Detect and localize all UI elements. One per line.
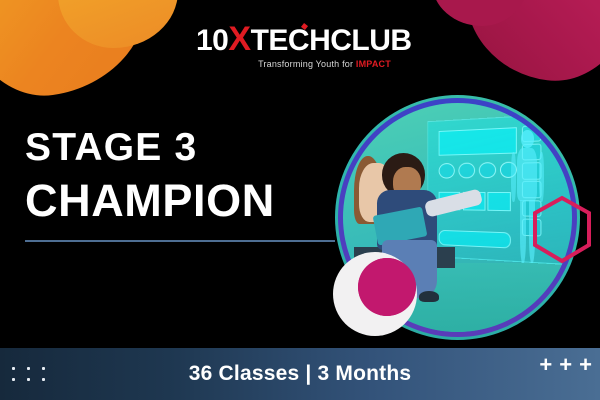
logo-x-text: X [228,20,250,58]
holo-pill [479,162,496,178]
promo-banner: 10XTECHCLUB Transforming Youth for IMPAC… [0,0,600,400]
logo-wordmark: 10XTECHCLUB [196,22,411,56]
logo-tagline: Transforming Youth for IMPACT [196,59,411,69]
magenta-circle-decoration [358,258,416,316]
headline-underline-divider [25,240,335,242]
footer-course-info-text: 36 Classes | 3 Months [189,362,412,386]
headline-block: STAGE 3 CHAMPION [25,128,345,223]
headline-stage-text: STAGE 3 [25,128,345,167]
logo-name-text: TECHCLUB [251,24,412,57]
plus-icon: + [579,354,592,376]
footer-bar: 36 Classes | 3 Months + + + [0,348,600,400]
holo-pill [458,162,474,178]
brand-logo: 10XTECHCLUB Transforming Youth for IMPAC… [196,22,411,69]
logo-tagline-accent: IMPACT [356,59,391,69]
logo-prefix-text: 10 [196,24,228,57]
body-scan-arm-left [511,152,516,202]
dot-icon [27,367,30,370]
hexagon-outline-decoration [531,195,593,265]
student-shoe-right [419,291,440,302]
headline-champion-text: CHAMPION [25,178,345,223]
holo-bar [439,229,511,248]
dots-grid-decoration [12,367,45,381]
plus-icon: + [559,354,572,376]
holo-pill [439,163,455,179]
dot-icon [42,367,45,370]
dot-icon [12,367,15,370]
plus-marks-decoration: + + + [539,354,592,376]
holo-bar [439,127,517,156]
dot-icon [27,378,30,381]
body-scan-leg-left [520,200,526,264]
plus-icon: + [539,354,552,376]
body-scan-torso [517,148,537,201]
dot-icon [12,378,15,381]
logo-tagline-prefix: Transforming Youth for [258,59,356,69]
magenta-circle-fill [358,258,416,316]
body-scan-head [521,130,533,147]
dot-icon [42,378,45,381]
